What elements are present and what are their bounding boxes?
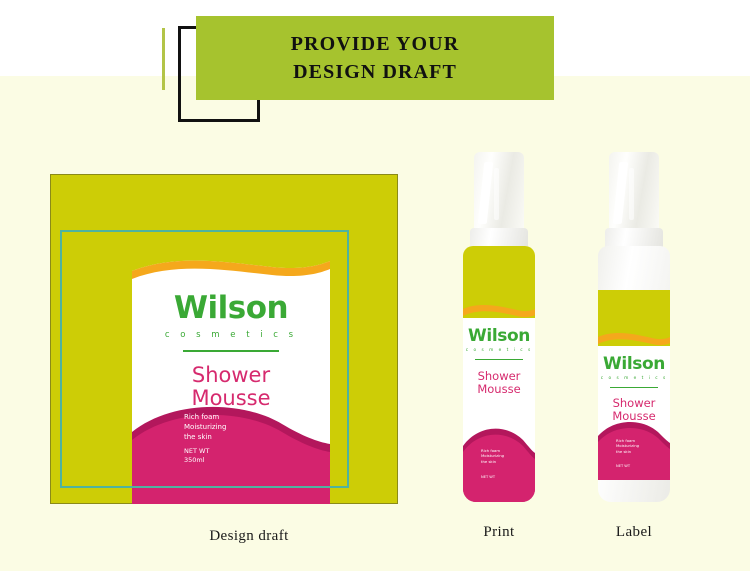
net-weight: NET WT	[481, 475, 495, 480]
brand-subtitle: c o s m e t i c s	[463, 349, 535, 353]
product-name: Shower Mousse	[463, 370, 535, 395]
wrapped-label: Wilson c o s m e t i c s Shower Mousse R…	[598, 290, 670, 480]
print-bottle-body: Wilson c o s m e t i c s Shower Mousse R…	[463, 246, 535, 502]
print-bottle: Wilson c o s m e t i c s Shower Mousse R…	[463, 152, 535, 502]
decorative-frame-bottom-line	[178, 119, 260, 122]
net-weight: NET WT	[616, 464, 630, 469]
screenshot-root: PROVIDE YOUR DESIGN DRAFT Wilson c o s m…	[0, 0, 750, 571]
bottle-top-wave-icon	[463, 304, 535, 324]
net-weight-label: NET WT	[184, 447, 209, 456]
product-description: Rich foam Moisturizing the skin	[184, 412, 226, 442]
brand-subtitle: c o s m e t i c s	[132, 331, 330, 340]
brand-subtitle: c o s m e t i c s	[598, 377, 670, 381]
net-weight-label: NET WT	[481, 475, 495, 480]
brand-name: Wilson	[463, 328, 535, 345]
product-description-line3: the skin	[616, 449, 639, 455]
label-bottle-body: Wilson c o s m e t i c s Shower Mousse R…	[598, 246, 670, 502]
product-name-line2: Mousse	[463, 383, 535, 396]
product-description: Rich foam Moisturizing the skin	[616, 438, 639, 455]
product-name-line1: Shower	[132, 364, 330, 387]
caption-label: Label	[584, 524, 684, 541]
brand-divider	[475, 359, 523, 360]
product-description-line2: Moisturizing	[616, 443, 639, 449]
page-title-line1: PROVIDE YOUR	[291, 30, 460, 58]
product-description-line3: the skin	[184, 432, 226, 442]
brand-name: Wilson	[598, 356, 670, 373]
product-description-line2: Moisturizing	[184, 422, 226, 432]
page-title: PROVIDE YOUR DESIGN DRAFT	[196, 16, 554, 100]
bottle-cap-highlight-2	[494, 168, 499, 220]
product-description-line3: the skin	[481, 459, 504, 465]
brand-divider	[610, 387, 658, 388]
bottle-top-wave-icon	[598, 332, 670, 352]
green-accent-bar	[162, 28, 165, 90]
brand-divider	[183, 350, 279, 352]
caption-design-draft: Design draft	[149, 528, 349, 545]
net-weight: NET WT 350ml	[184, 447, 209, 466]
product-description-line1: Rich foam	[184, 412, 226, 422]
product-description-line2: Moisturizing	[481, 453, 504, 459]
label-bottom-wave-icon	[132, 394, 330, 504]
net-weight-label: NET WT	[616, 464, 630, 469]
label-bottle: Wilson c o s m e t i c s Shower Mousse R…	[598, 152, 670, 502]
label-top-wave-icon	[132, 257, 330, 293]
caption-print: Print	[449, 524, 549, 541]
net-weight-value: 350ml	[184, 456, 209, 465]
brand-name: Wilson	[132, 293, 330, 324]
bottle-cap-highlight-2	[629, 168, 634, 220]
product-description: Rich foam Moisturizing the skin	[481, 448, 504, 465]
design-draft-label-artwork: Wilson c o s m e t i c s Shower Mousse R…	[132, 257, 330, 504]
page-title-line2: DESIGN DRAFT	[293, 58, 457, 86]
